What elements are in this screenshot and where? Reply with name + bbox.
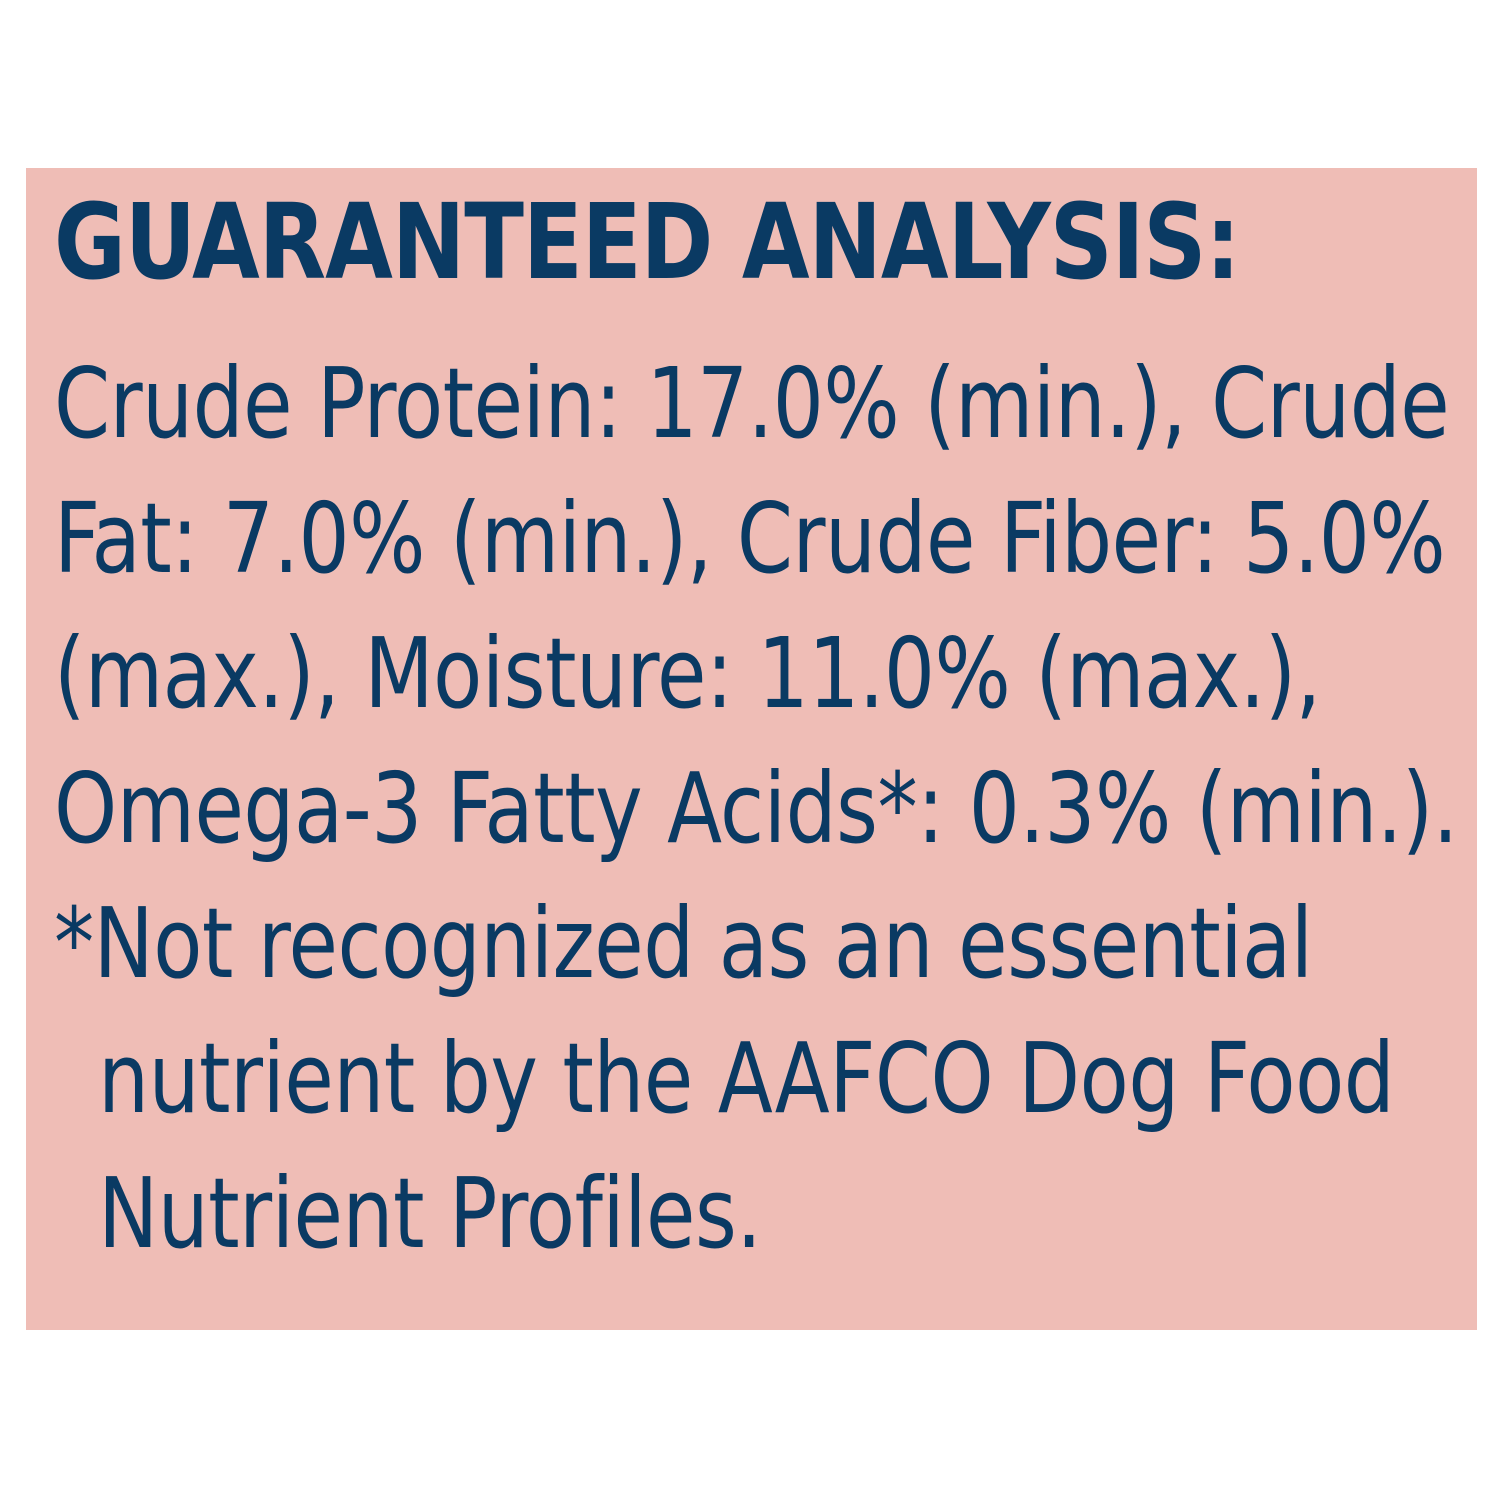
page-title: GUARANTEED ANALYSIS: [54, 190, 1363, 294]
guaranteed-analysis-panel: GUARANTEED ANALYSIS: Crude Protein: 17.0… [26, 168, 1477, 1330]
footnote-line: nutrient by the AAFCO Dog Food [54, 1011, 1360, 1146]
analysis-line: (max.), Moisture: 11.0% (max.), [54, 606, 1360, 741]
analysis-text-block: Crude Protein: 17.0% (min.), Crude Fat: … [54, 336, 1474, 1281]
footnote-line: *Not recognized as an essential [54, 876, 1360, 1011]
analysis-line: Crude Protein: 17.0% (min.), Crude [54, 336, 1360, 471]
footnote-line: Nutrient Profiles. [54, 1146, 1360, 1281]
guaranteed-analysis-panel-page: GUARANTEED ANALYSIS: Crude Protein: 17.0… [0, 0, 1500, 1500]
analysis-line: Fat: 7.0% (min.), Crude Fiber: 5.0% [54, 471, 1360, 606]
analysis-line: Omega-3 Fatty Acids*: 0.3% (min.). [54, 741, 1360, 876]
